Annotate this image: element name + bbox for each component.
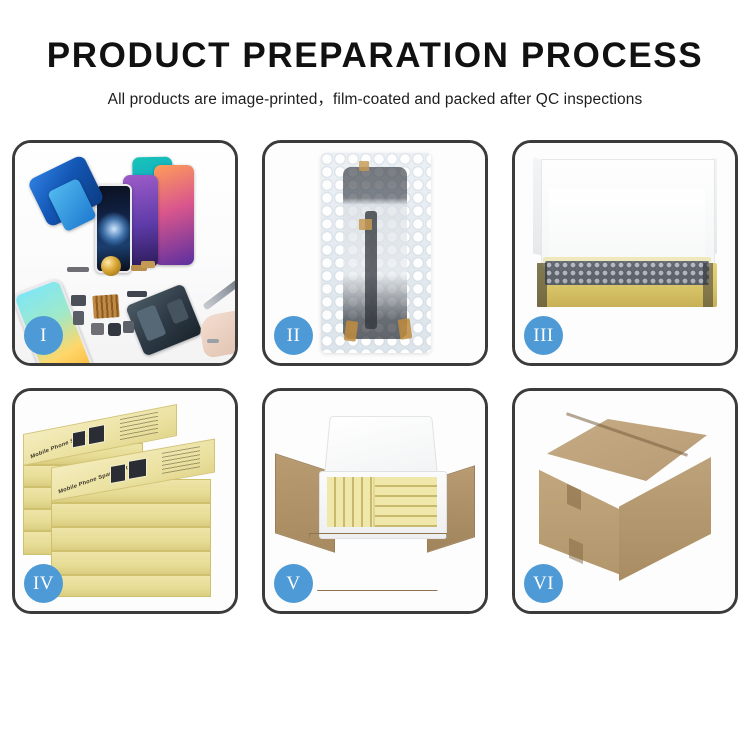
yellow-boxes-vertical-row	[327, 477, 373, 527]
stacked-box-fr-4	[51, 551, 211, 575]
box-window-top-2	[88, 424, 105, 445]
box-spec-lines-top	[120, 412, 158, 441]
step-panel-2[interactable]: II	[262, 140, 488, 366]
tray-corner-left	[537, 263, 547, 307]
chip-array-component	[92, 294, 120, 319]
bubble-padding-layer	[545, 261, 709, 285]
connector-part-5	[73, 311, 84, 325]
foam-back-sheet	[549, 189, 705, 261]
box-window-top-1	[72, 430, 86, 449]
tray-corner-right	[703, 263, 713, 307]
connector-part-7	[123, 321, 134, 333]
step-badge-3: III	[524, 316, 563, 355]
tape-piece-bottom-right	[398, 318, 413, 339]
tape-piece-top	[359, 161, 369, 171]
yellow-boxes-horizontal-row	[375, 477, 437, 527]
stacked-box-fr-3	[51, 527, 211, 551]
connector-part-4	[71, 295, 86, 306]
connector-part-1	[67, 267, 89, 272]
step-panel-1[interactable]: I	[12, 140, 238, 366]
stacked-box-fr-5	[51, 575, 211, 597]
step-panel-3[interactable]: III	[512, 140, 738, 366]
step-panel-5[interactable]: V	[262, 388, 488, 614]
stacked-box-fr-2	[51, 503, 211, 527]
step-badge-4: IV	[24, 564, 63, 603]
camera-module-part	[108, 323, 121, 336]
connector-part-6	[91, 323, 104, 335]
foam-box-lid	[324, 416, 438, 477]
flex-cable-part	[141, 261, 155, 268]
connector-part-3	[127, 291, 147, 297]
step-badge-6: VI	[524, 564, 563, 603]
steps-grid: I II III	[12, 140, 738, 614]
packed-yellow-boxes	[327, 477, 437, 527]
page-subtitle: All products are image-printed，film-coat…	[0, 87, 750, 109]
header: PRODUCT PREPARATION PROCESS All products…	[0, 0, 750, 109]
phone-screen-sunset	[154, 165, 194, 265]
carton-front-panel	[309, 533, 447, 591]
box-spec-lines-front	[162, 446, 200, 475]
bubble-wrap-bag	[321, 153, 431, 353]
step-badge-2: II	[274, 316, 313, 355]
screw-part	[207, 339, 219, 343]
step-panel-6[interactable]: VI	[512, 388, 738, 614]
box-window-front-2	[128, 458, 147, 480]
page-title: PRODUCT PREPARATION PROCESS	[0, 38, 750, 75]
carton-face-top	[547, 419, 707, 481]
step-badge-5: V	[274, 564, 313, 603]
box-window-front-1	[110, 463, 126, 484]
tape-piece-middle	[359, 219, 372, 230]
speaker-component	[101, 256, 121, 276]
step-badge-1: I	[24, 316, 63, 355]
step-panel-4[interactable]: Mobile Phone Spare Parts Mobile Phone Sp…	[12, 388, 238, 614]
